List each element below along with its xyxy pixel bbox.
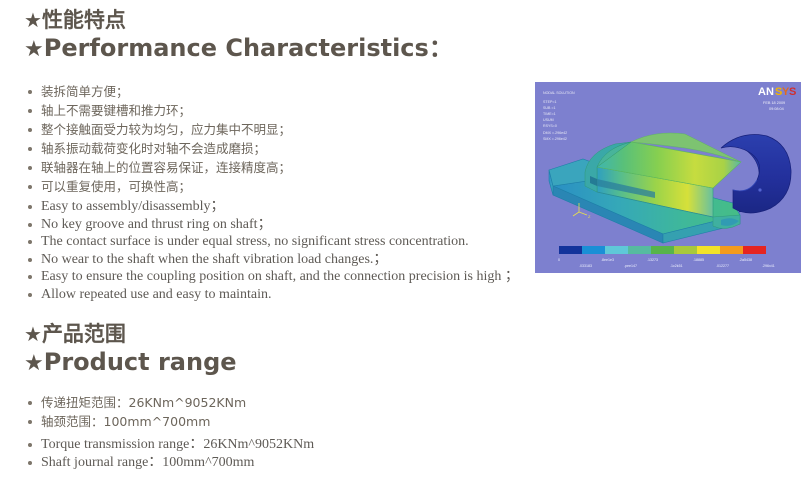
fea-header-line: TIME=1 [543,112,556,116]
performance-heading-block: ★性能特点 ★Performance Characteristics： [24,8,453,63]
fea-header-line: RSYS=0 [543,124,557,128]
list-item: 传递扭矩范围：26KNm^9052KNm [28,393,246,412]
product-range-heading-en-text: Product range [44,348,237,376]
fea-header-line: STEP=1 [543,100,556,104]
fea-stamp-line: FEB 18 2009 [763,101,785,105]
colorbar-label: .2a5438 [739,258,752,262]
list-item: 轴上不需要键槽和推力环； [28,101,291,120]
colorbar-label: .pee147 [624,264,637,268]
list-item: 整个接触面受力较为均匀，应力集中不明显； [28,120,291,139]
colorbar-label: .8ee1e3 [601,258,614,262]
svg-text:AN: AN [758,86,774,98]
colorbar-label: .18885 [693,258,704,262]
fea-simulation-image: NODAL SOLUTION STEP=1 SUB =1 TIME=1 USUM… [535,82,801,273]
product-range-heading-cn: ★产品范围 [24,322,237,347]
colorbar-label: .13273 [647,258,658,262]
list-item: No wear to the shaft when the shaft vibr… [28,251,519,269]
colorbar-label: .012277 [716,264,729,268]
star-icon: ★ [24,324,42,344]
list-item: Torque transmission range：26KNm^9052KNm [28,436,314,454]
fea-colorbar [559,246,766,254]
list-item: Allow repeated use and easy to maintain. [28,286,519,304]
list-item: Shaft journal range：100mm^700mm [28,454,314,472]
performance-heading-cn: ★性能特点 [24,8,453,33]
star-icon: ★ [24,10,42,30]
fea-header-line: SMX =.296e42 [543,137,567,141]
star-icon: ★ [24,353,44,375]
fea-header-line: SUB =1 [543,106,556,110]
performance-heading-en: ★Performance Characteristics： [24,33,453,63]
fea-stamp-line: 09:08:04 [769,107,784,111]
colorbar-label: .033183 [579,264,592,268]
list-item: 轴颈范围：100mm^700mm [28,412,246,431]
list-item: 可以重复使用，可换性高； [28,177,291,196]
performance-bullet-list-cn: 装拆简单方便； 轴上不需要键槽和推力环； 整个接触面受力较为均匀，应力集中不明显… [28,82,291,196]
performance-bullet-list-en: Easy to assembly/disassembly； No key gro… [28,198,519,303]
ansys-logo: AN S Y S [758,86,796,98]
product-range-bullet-list-en: Torque transmission range：26KNm^9052KNm … [28,436,314,471]
colorbar-label: .1c2k51 [670,264,683,268]
product-range-heading-en: ★Product range [24,347,237,377]
star-icon: ★ [24,39,44,61]
list-item: 轴系振动载荷变化时对轴不会造成磨损； [28,139,291,158]
list-item: Easy to ensure the coupling position on … [28,268,519,286]
svg-text:S: S [789,86,796,98]
list-item: 联轴器在轴上的位置容易保证，连接精度高； [28,158,291,177]
performance-heading-cn-text: 性能特点 [42,8,126,32]
list-item: The contact surface is under equal stres… [28,233,519,251]
product-range-heading-cn-text: 产品范围 [42,322,126,346]
colorbar-label: 0 [558,258,560,262]
list-item: Easy to assembly/disassembly； [28,198,519,216]
fea-header-line: NODAL SOLUTION [543,91,575,95]
product-range-bullet-list-cn: 传递扭矩范围：26KNm^9052KNm 轴颈范围：100mm^700mm [28,393,246,431]
performance-heading-en-text: Performance Characteristics： [44,34,453,62]
colorbar-label: .296x41 [762,264,775,268]
list-item: No key groove and thrust ring on shaft； [28,216,519,234]
fea-header-line: DMX =.296e42 [543,131,567,135]
list-item: 装拆简单方便； [28,82,291,101]
product-range-heading-block: ★产品范围 ★Product range [24,322,237,377]
fea-header-line: USUM [543,118,554,122]
